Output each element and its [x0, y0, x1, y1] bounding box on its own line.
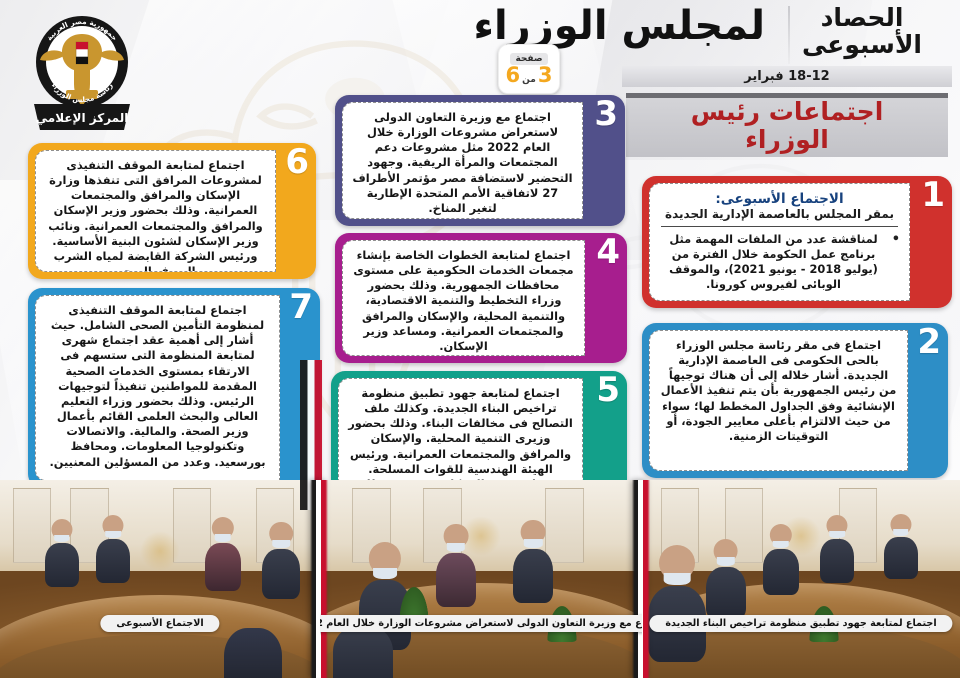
card-body: اجتماع مع وزيرة التعاون الدولى لاستعراض … — [352, 110, 573, 216]
photo-panel-2: اجتماع مع وزيرة التعاون الدولى لاستعراض … — [320, 480, 642, 678]
meeting-card-4: 4 اجتماع لمتابعة الخطوات الخاصة بإنشاء م… — [335, 233, 627, 363]
header: لمجلس الوزراء الحصاد الأسبوعى 18-12 فبرا… — [0, 0, 960, 96]
card-body: اجتماع لمتابعة الموقف التنفيذى لمنظومة ا… — [45, 303, 270, 470]
card-body: اجتماع فى مقر رئاسة مجلس الوزراء بالحى ا… — [659, 338, 898, 444]
card-content: اجتماع فى مقر رئاسة مجلس الوزراء بالحى ا… — [649, 330, 908, 471]
date-range-bar: 18-12 فبراير — [622, 66, 952, 87]
card-number: 1 — [921, 178, 945, 212]
card-number: 6 — [285, 145, 309, 179]
photo-panel-3: الاجتماع الأسبوعى — [0, 480, 320, 678]
weekly-title-line1: الحصاد — [821, 3, 904, 32]
infographic-page: لمجلس الوزراء الحصاد الأسبوعى 18-12 فبرا… — [0, 0, 960, 678]
card-number: 4 — [596, 235, 620, 269]
card-number: 7 — [289, 290, 313, 324]
section-title: اجتماعات رئيس الوزراء — [626, 98, 948, 154]
meeting-card-3: 3 اجتماع مع وزيرة التعاون الدولى لاستعرا… — [335, 95, 625, 226]
card-number: 3 — [594, 97, 618, 131]
card-bullet: لمناقشة عدد من الملفات المهمة مثل برنامج… — [659, 232, 900, 293]
card-content: الاجتماع الأسبوعى: بمقر المجلس بالعاصمة … — [649, 183, 910, 301]
flag-separator-icon — [632, 480, 650, 678]
logo-bottom-text: المركز الإعلامي — [36, 111, 129, 125]
photo-panel-1: اجتماع لمتابعة جهود تطبيق منظومة تراخيص … — [642, 480, 960, 678]
flag-separator-icon — [310, 480, 328, 678]
card-body: اجتماع لمتابعة الخطوات الخاصة بإنشاء مجم… — [352, 248, 575, 354]
date-range-text: 18-12 فبراير — [744, 69, 829, 84]
card-divider — [661, 226, 898, 227]
card-content: اجتماع لمتابعة الموقف التنفيذى لمشروعات … — [35, 150, 276, 272]
card-body: اجتماع لمتابعة الموقف التنفيذى لمشروعات … — [45, 158, 266, 272]
meeting-room-image — [0, 480, 320, 678]
page-indicator-badge: صفحة 3 من 6 — [498, 44, 560, 94]
page-number-group: 3 من 6 — [506, 65, 553, 86]
weekly-title-line2: الأسبوعى — [782, 31, 942, 58]
photo-caption: اجتماع لمتابعة جهود تطبيق منظومة تراخيص … — [649, 615, 952, 632]
card-subheading: بمقر المجلس بالعاصمة الإدارية الجديدة — [659, 207, 900, 221]
photo-caption: الاجتماع الأسبوعى — [100, 615, 219, 632]
photo-caption: اجتماع مع وزيرة التعاون الدولى لاستعراض … — [320, 615, 642, 632]
meeting-card-6: 6 اجتماع لمتابعة الموقف التنفيذى لمشروعا… — [28, 143, 316, 279]
card-heading: الاجتماع الأسبوعى: بمقر المجلس بالعاصمة … — [659, 191, 900, 222]
meeting-room-image — [320, 480, 642, 678]
meeting-card-7: 7 اجتماع لمتابعة الموقف التنفيذى لمنظومة… — [28, 288, 320, 488]
page-title: لمجلس الوزراء — [474, 6, 765, 46]
card-number: 5 — [596, 373, 620, 407]
card-content: اجتماع لمتابعة الخطوات الخاصة بإنشاء مجم… — [342, 240, 585, 356]
meeting-card-1: 1 الاجتماع الأسبوعى: بمقر المجلس بالعاصم… — [642, 176, 952, 308]
meeting-card-2: 2 اجتماع فى مقر رئاسة مجلس الوزراء بالحى… — [642, 323, 948, 478]
section-title-line2: الوزراء — [626, 126, 948, 154]
weekly-harvest-title: الحصاد الأسبوعى — [782, 4, 942, 58]
photo-strip: اجتماع لمتابعة جهود تطبيق منظومة تراخيص … — [0, 480, 960, 678]
card-content: اجتماع مع وزيرة التعاون الدولى لاستعراض … — [342, 102, 583, 219]
page-current: 3 — [538, 65, 553, 86]
meeting-room-image — [642, 480, 960, 678]
section-title-line1: اجتماعات رئيس — [626, 98, 948, 126]
page-total: 6 — [506, 65, 521, 86]
card-content: اجتماع لمتابعة الموقف التنفيذى لمنظومة ا… — [35, 295, 280, 481]
card-number: 2 — [917, 325, 941, 359]
card-heading-text: الاجتماع الأسبوعى: — [715, 191, 843, 207]
cabinet-media-center-logo: جمهورية مصر العربية رئاسة مجلس الوزراء ا… — [22, 8, 142, 136]
page-of: من — [522, 76, 536, 85]
card-bullet-list: لمناقشة عدد من الملفات المهمة مثل برنامج… — [659, 232, 900, 293]
